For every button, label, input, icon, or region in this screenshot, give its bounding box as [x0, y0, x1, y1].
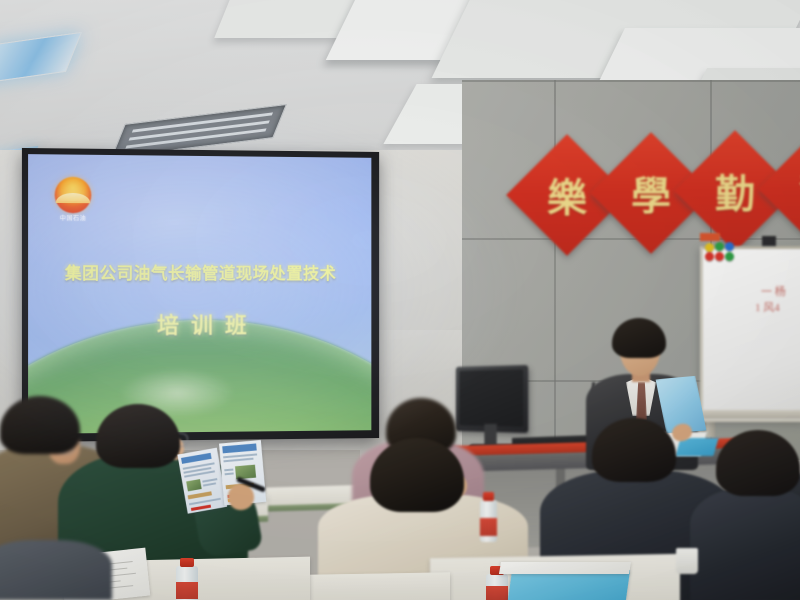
training-brochure	[178, 439, 269, 515]
bottle-label	[486, 586, 508, 600]
whiteboard-marker-tray	[698, 410, 800, 419]
cnpc-petrochina-logo: 中国石油	[51, 177, 96, 226]
monitor-screen	[459, 369, 523, 426]
whiteboard-text: 一 杨	[761, 283, 786, 299]
water-bottle	[176, 558, 198, 600]
magnet-icon[interactable]	[725, 252, 734, 261]
bottle-label	[176, 582, 198, 599]
plaque-glyph: 奮	[776, 146, 800, 232]
magnet-icon[interactable]	[705, 243, 714, 252]
magnet-icon[interactable]	[715, 242, 724, 251]
projection-screen: 中国石油 集团公司油气长输管道现场处置技术 培训班	[28, 154, 371, 434]
blue-document-folder	[508, 570, 630, 600]
magnet-icon[interactable]	[705, 252, 714, 261]
paper-cup	[676, 548, 698, 574]
photo-scene: 中国石油 集团公司油气长输管道现场处置技术 培训班 樂 學 勤 奮 一 杨 1 …	[0, 0, 800, 600]
whiteboard-text: 1 风4	[755, 299, 780, 315]
logo-text: 中国石油	[51, 213, 96, 222]
bottle-cap	[180, 558, 194, 567]
magnet-icon[interactable]	[715, 252, 724, 261]
projection-screen-frame: 中国石油 集团公司油气长输管道现场处置技术 培训班	[22, 148, 379, 442]
water-bottle	[480, 492, 497, 542]
slide-subtitle: 培训班	[28, 308, 371, 341]
handout-papers	[499, 562, 631, 574]
attendee-torso	[0, 540, 112, 600]
slide-title: 集团公司油气长输管道现场处置技术	[28, 260, 371, 285]
whiteboard-clip[interactable]	[700, 233, 720, 241]
bottle-label	[480, 518, 497, 536]
lcd-monitor	[456, 365, 528, 433]
ceiling-light-panel	[0, 32, 82, 84]
bottle-cap	[483, 492, 494, 501]
magnet-icon[interactable]	[725, 242, 734, 251]
whiteboard: 一 杨 1 风4	[700, 246, 800, 422]
whiteboard-clip[interactable]	[762, 236, 776, 246]
attendee-torso	[690, 488, 800, 600]
